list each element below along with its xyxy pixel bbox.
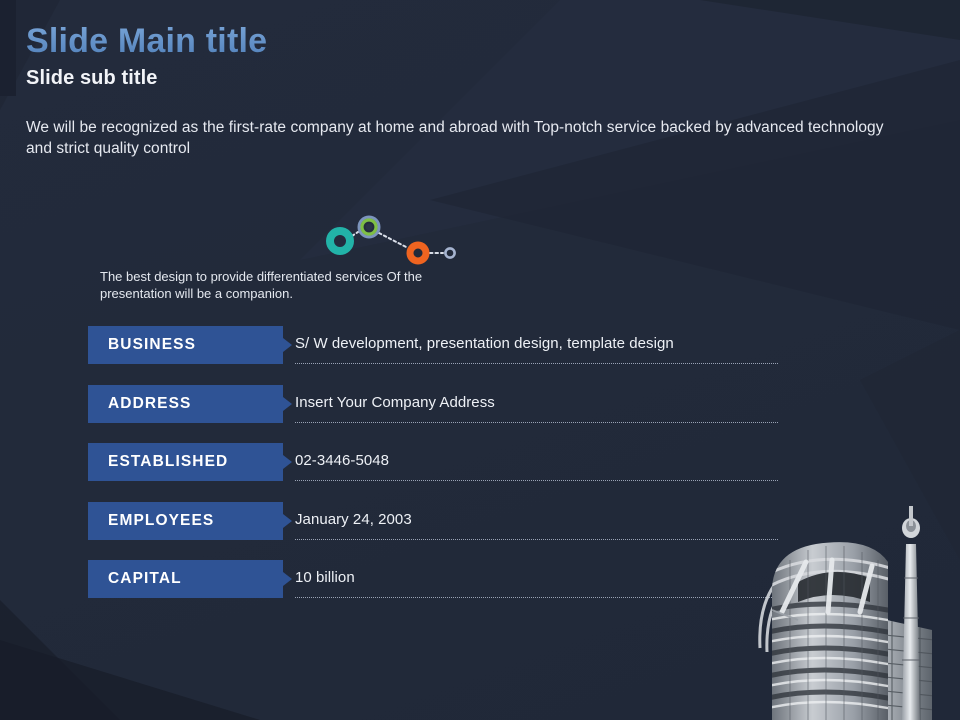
building-mast <box>902 506 920 720</box>
info-label-box: EMPLOYEES <box>88 502 283 540</box>
info-value-text: January 24, 2003 <box>295 511 412 530</box>
info-label-text: CAPITAL <box>88 570 182 588</box>
info-label-text: ADDRESS <box>88 395 192 413</box>
info-label-box: BUSINESS <box>88 326 283 364</box>
info-row-address: ADDRESS Insert Your Company Address <box>88 385 778 425</box>
building-photo <box>720 500 960 720</box>
info-label-text: BUSINESS <box>88 336 196 354</box>
info-row-employees: EMPLOYEES January 24, 2003 <box>88 502 778 542</box>
info-value-field[interactable]: 10 billion <box>295 560 778 598</box>
info-value-text: 02-3446-5048 <box>295 452 389 471</box>
info-value-field[interactable]: S/ W development, presentation design, t… <box>295 326 778 364</box>
info-value-text: Insert Your Company Address <box>295 394 495 413</box>
info-value-field[interactable]: January 24, 2003 <box>295 502 778 540</box>
info-label-box: ESTABLISHED <box>88 443 283 481</box>
info-label-text: ESTABLISHED <box>88 453 228 471</box>
info-value-text: S/ W development, presentation design, t… <box>295 335 674 354</box>
info-row-established: ESTABLISHED 02-3446-5048 <box>88 443 778 483</box>
info-label-text: EMPLOYEES <box>88 512 214 530</box>
slide-canvas: Slide Main title Slide sub title We will… <box>0 0 960 720</box>
info-value-text: 10 billion <box>295 569 355 588</box>
info-label-box: CAPITAL <box>88 560 283 598</box>
info-label-box: ADDRESS <box>88 385 283 423</box>
info-value-field[interactable]: 02-3446-5048 <box>295 443 778 481</box>
info-row-capital: CAPITAL 10 billion <box>88 560 778 600</box>
info-value-field[interactable]: Insert Your Company Address <box>295 385 778 423</box>
info-row-business: BUSINESS S/ W development, presentation … <box>88 326 778 366</box>
building-tower <box>760 542 898 720</box>
